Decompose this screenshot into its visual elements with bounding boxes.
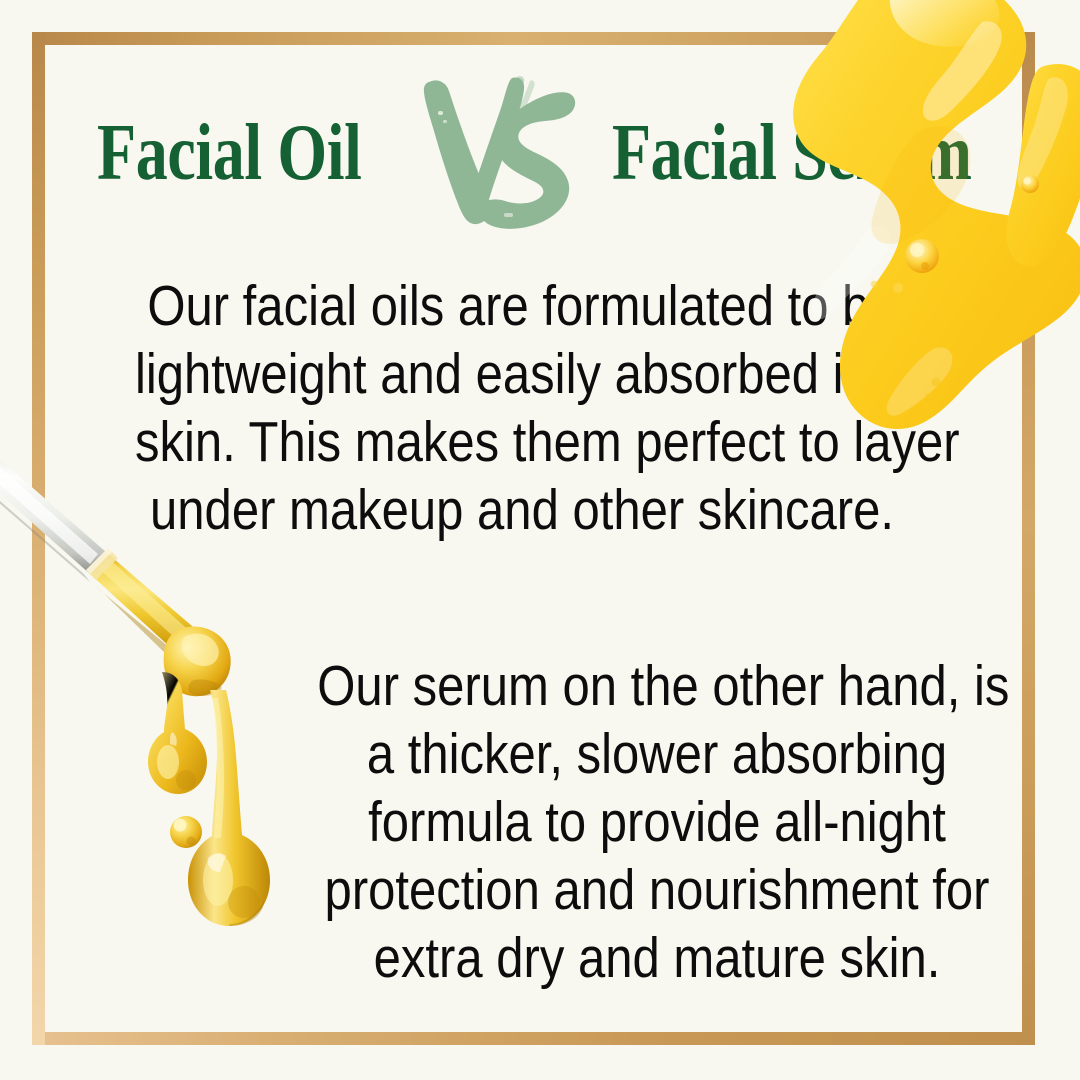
oil-line-2: lightweight and easily absorbed into — [135, 340, 909, 408]
serum-line-5: extra dry and mature skin. — [317, 924, 996, 992]
facial-serum-description: Our serum on the other hand, is a thicke… — [317, 652, 996, 992]
oil-line-1: Our facial oils are formulated to be — [135, 272, 909, 340]
serum-line-2: a thicker, slower absorbing — [317, 720, 996, 788]
serum-line-1: Our serum on the other hand, is — [317, 652, 996, 720]
serum-line-3: formula to provide all-night — [317, 788, 996, 856]
oil-line-3: skin. This makes them perfect to layer — [135, 408, 909, 476]
poster-canvas: Facial Oil Facial Serum Our facial oils … — [0, 0, 1080, 1080]
oil-line-4: under makeup and other skincare. — [135, 476, 909, 544]
serum-line-4: protection and nourishment for — [317, 856, 996, 924]
title-text-row: Facial Oil Facial Serum — [64, 113, 1016, 193]
title-facial-serum: Facial Serum — [611, 113, 971, 193]
frame-bottom-edge — [32, 1032, 1035, 1045]
page-title: Facial Oil Facial Serum — [0, 103, 1080, 203]
title-facial-oil: Facial Oil — [97, 113, 361, 193]
frame-top-edge — [32, 32, 1035, 45]
facial-oil-description: Our facial oils are formulated to be lig… — [135, 272, 909, 544]
